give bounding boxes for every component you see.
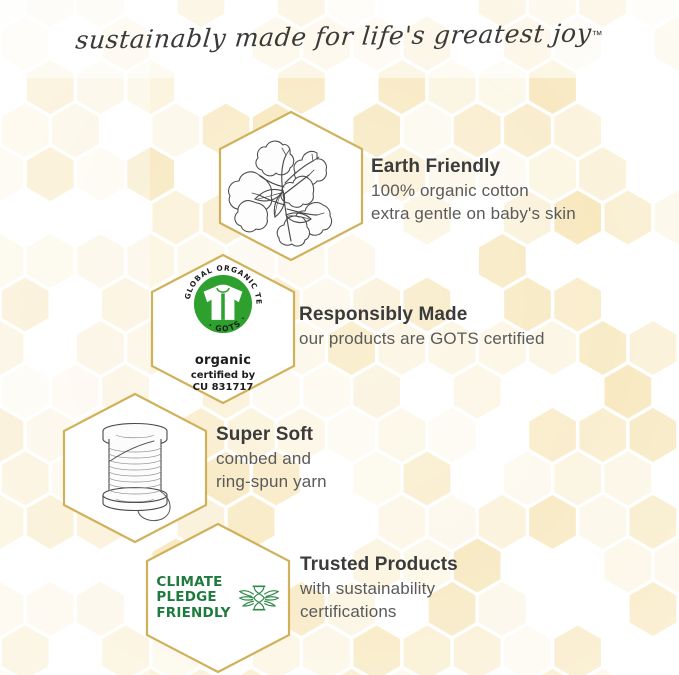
feature-title: Trusted Products: [300, 553, 458, 577]
feature-title: Earth Friendly: [371, 155, 576, 179]
feature-copy-trusted-products: Trusted Products with sustainability cer…: [300, 553, 458, 624]
headline-text: sustainably made for life's greatest joy: [75, 18, 594, 54]
feature-line: certifications: [300, 601, 458, 624]
feature-copy-super-soft: Super Soft combed and ring-spun yarn: [216, 423, 327, 494]
cotton-plant-sketch-icon: [216, 110, 366, 262]
feature-hex-earth-friendly: [216, 110, 366, 262]
climate-pledge-line-3: FRIENDLY: [156, 606, 230, 621]
feature-hex-responsibly-made: GLOBAL ORGANIC TEXTILE STANDARD · GOTS ·…: [148, 253, 298, 405]
feature-line: our products are GOTS certified: [299, 328, 545, 351]
feature-line: extra gentle on baby's skin: [371, 203, 576, 226]
gots-organic-certification-icon: GLOBAL ORGANIC TEXTILE STANDARD · GOTS ·…: [148, 253, 298, 405]
feature-line: combed and: [216, 448, 327, 471]
feature-title: Responsibly Made: [299, 303, 545, 327]
climate-pledge-friendly-icon: CLIMATE PLEDGE FRIENDLY: [143, 522, 293, 674]
climate-pledge-line-2: PLEDGE: [156, 590, 230, 605]
feature-copy-responsibly-made: Responsibly Made our products are GOTS c…: [299, 303, 545, 351]
feature-line: 100% organic cotton: [371, 180, 576, 203]
gots-organic-label: organic: [191, 353, 255, 368]
climate-pledge-line-1: CLIMATE: [156, 575, 230, 590]
feature-copy-earth-friendly: Earth Friendly 100% organic cotton extra…: [371, 155, 576, 226]
winged-hourglass-icon: [238, 581, 280, 615]
promo-image-root: sustainably made for life's greatest joy…: [0, 0, 679, 675]
feature-title: Super Soft: [216, 423, 327, 447]
feature-hex-trusted-products: CLIMATE PLEDGE FRIENDLY: [143, 522, 293, 674]
feature-line: ring-spun yarn: [216, 471, 327, 494]
gots-certified-by-label: certified by: [191, 370, 255, 382]
feature-line: with sustainability: [300, 578, 458, 601]
trademark-symbol: ™: [592, 30, 603, 42]
headline: sustainably made for life's greatest joy…: [0, 22, 679, 51]
